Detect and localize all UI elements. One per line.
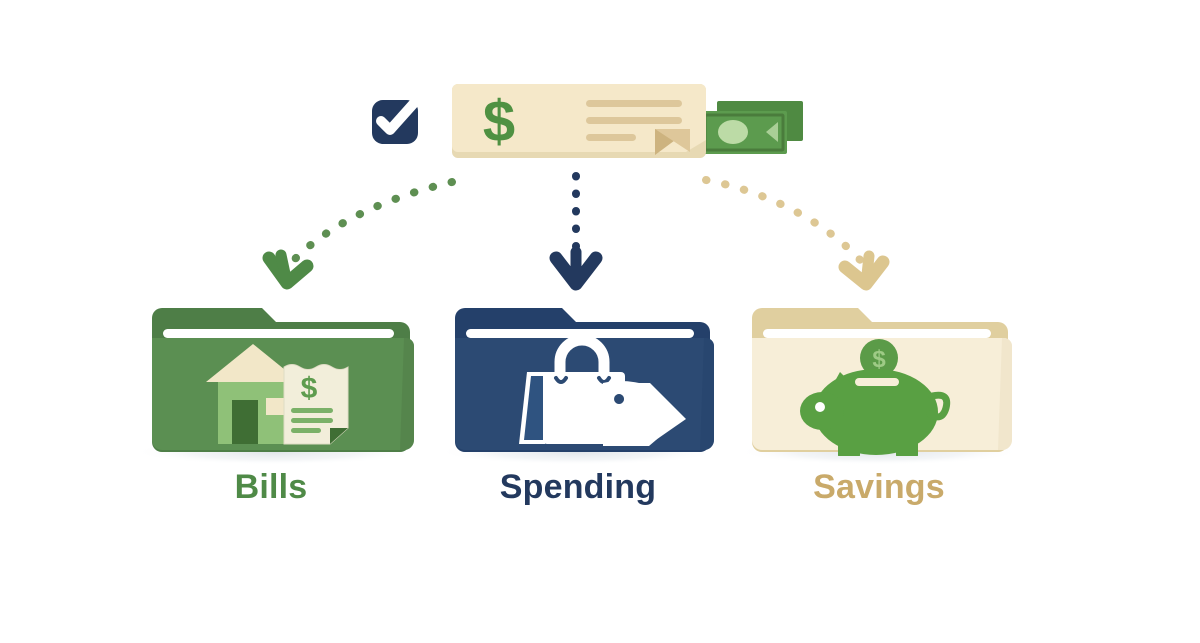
dollar-sign-icon: $ xyxy=(483,89,515,154)
income-source-group: $ xyxy=(372,84,803,158)
folder-spending[interactable] xyxy=(455,308,714,452)
arrow-to-savings xyxy=(706,180,883,284)
category-label-bills: Bills xyxy=(235,468,308,507)
arrow-to-spending xyxy=(556,176,596,284)
dollar-sign-icon: $ xyxy=(872,346,886,373)
cash-banknotes-icon xyxy=(701,101,803,154)
money-allocation-diagram: $ xyxy=(0,0,1200,638)
check-document-icon: $ xyxy=(452,84,706,158)
verified-check-badge-icon xyxy=(372,100,418,144)
category-label-savings: Savings xyxy=(813,468,945,507)
category-label-spending: Spending xyxy=(500,468,656,507)
infographic-canvas: $ xyxy=(0,0,1200,638)
dollar-sign-icon: $ xyxy=(301,372,318,405)
invoice-document-icon: $ xyxy=(284,365,348,445)
arrow-to-bills xyxy=(269,182,452,283)
folder-savings[interactable]: $ xyxy=(752,308,1012,458)
svg-text:$: $ xyxy=(483,89,515,154)
folder-bills[interactable]: $ xyxy=(152,308,414,452)
